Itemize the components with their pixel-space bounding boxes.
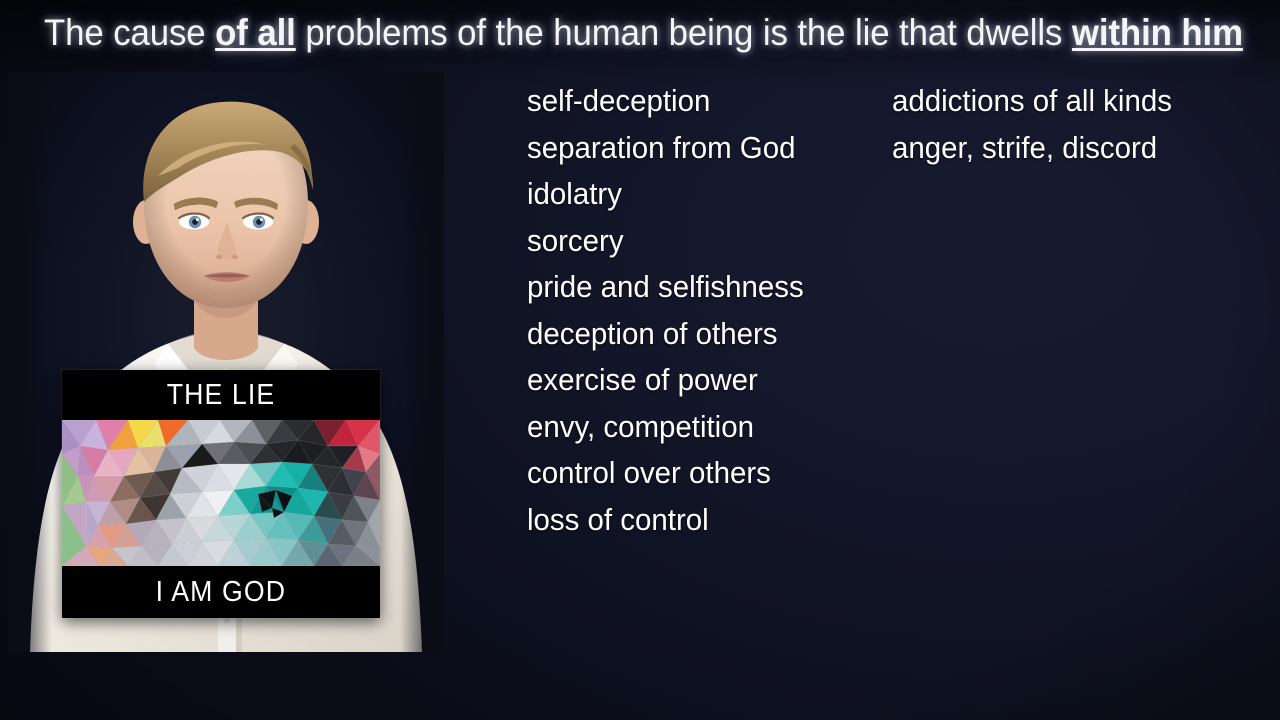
- list-item: loss of control: [527, 497, 804, 544]
- presentation-slide: THE LIE: [0, 0, 1280, 720]
- list-item: idolatry: [527, 171, 804, 218]
- slide-title: The cause of all problems of the human b…: [44, 13, 1243, 53]
- title-emphasis-3: within him: [1072, 12, 1243, 53]
- list-item: anger, strife, discord: [892, 125, 1172, 172]
- consequences-list-column-2: addictions of all kindsanger, strife, di…: [892, 78, 1172, 171]
- list-item: control over others: [527, 450, 804, 497]
- title-segment-0: The cause: [44, 12, 215, 53]
- eye-card-top-label: THE LIE: [167, 379, 276, 412]
- eye-polygon-graphic: [62, 420, 380, 566]
- slide-title-bar: The cause of all problems of the human b…: [0, 0, 1280, 66]
- eye-card-bottom-band: I AM GOD: [62, 566, 380, 618]
- the-lie-eye-card: THE LIE: [62, 370, 380, 618]
- consequences-list-column-1: self-deceptionseparation from Godidolatr…: [527, 78, 804, 543]
- low-poly-eye-artwork: [62, 420, 380, 566]
- eye-card-bottom-label: I AM GOD: [156, 576, 286, 609]
- eye-card-top-band: THE LIE: [62, 370, 380, 420]
- list-item: exercise of power: [527, 357, 804, 404]
- list-item: addictions of all kinds: [892, 78, 1172, 125]
- list-item: separation from God: [527, 125, 804, 172]
- title-emphasis-1: of all: [215, 12, 296, 53]
- list-item: pride and selfishness: [527, 264, 804, 311]
- list-item: self-deception: [527, 78, 804, 125]
- list-item: sorcery: [527, 218, 804, 265]
- list-item: envy, competition: [527, 404, 804, 451]
- title-segment-2: problems of the human being is the lie t…: [296, 12, 1072, 53]
- list-item: deception of others: [527, 311, 804, 358]
